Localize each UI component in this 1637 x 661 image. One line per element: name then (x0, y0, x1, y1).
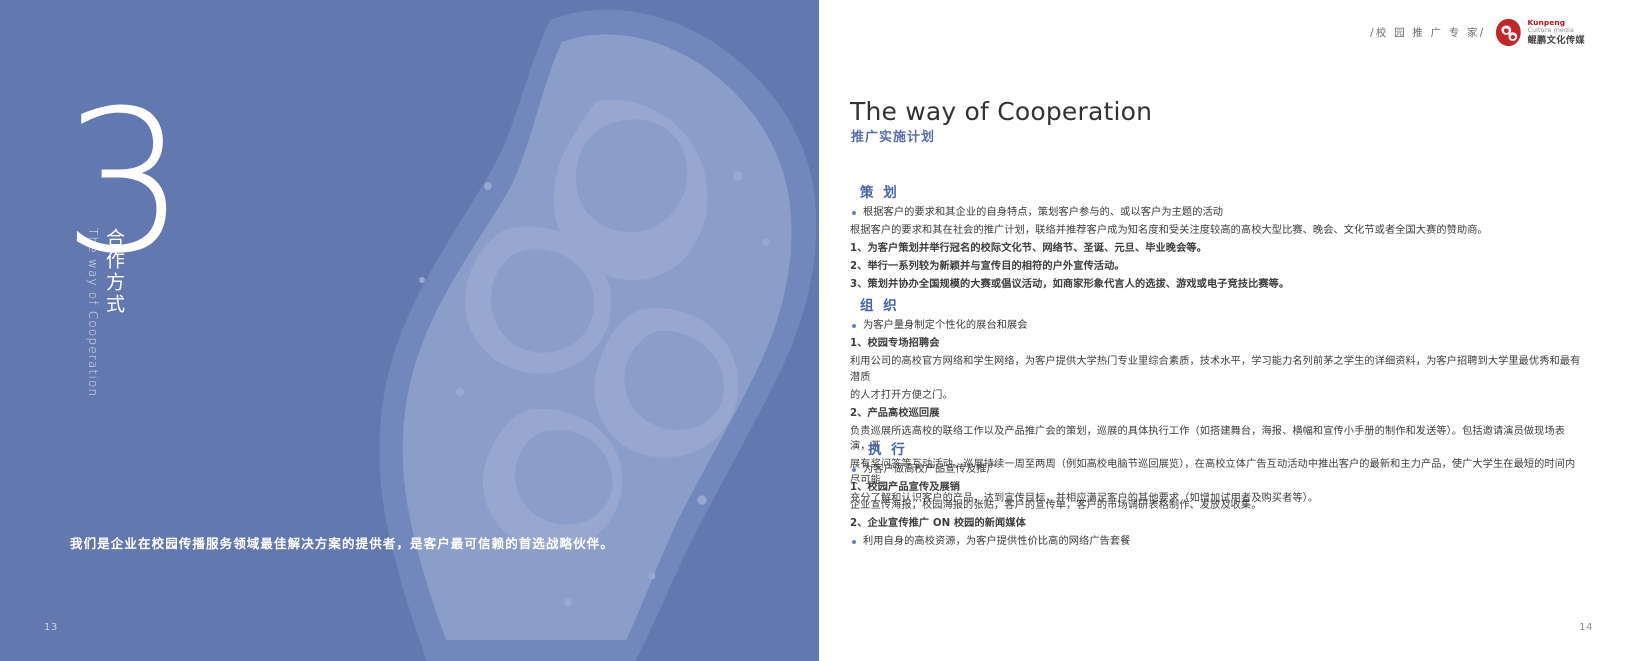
bullet-line: 为客户量身制定个性化的展台和展会 (850, 318, 1585, 334)
numbered-line: 1、校园专场招聘会 (850, 336, 1585, 352)
numbered-line: 1、校园产品宣传及展销 (850, 480, 1585, 496)
kunpeng-seal-icon (1495, 18, 1522, 47)
body-line: 的人才打开方便之门。 (850, 388, 1585, 404)
left-page-tagline: 我们是企业在校园传播服务领域最佳解决方案的提供者，是客户最可信赖的首选战略伙伴。 (70, 533, 614, 552)
section-heading: 执 行 (868, 438, 1585, 458)
section-body: 为客户做高校产品宣传及推广1、校园产品宣传及展销企业宣传海报，校园海报的张贴，客… (850, 462, 1585, 550)
section-heading: 策 划 (860, 181, 1585, 201)
right-content-page: /校 园 推 广 专 家/ Kunpeng Culture media 鲲鹏文化… (819, 0, 1637, 661)
body-line: 企业宣传海报，校园海报的张贴，客户的宣传单，客户的市场调研表格制作、发放及收集。 (850, 498, 1585, 514)
section-title-vertical: 合作方式 The way of Cooperation (86, 228, 128, 428)
section-body: 根据客户的要求和其企业的自身特点，策划客户参与的、或以客户为主题的活动根据客户的… (850, 205, 1585, 293)
brand-cn-name: 鲲鹏文化传媒 (1527, 36, 1585, 46)
body-line: 利用公司的高校官方网络和学生网络，为客户提供大学热门专业里综合素质，技术水平，学… (850, 354, 1585, 385)
page-spread: 3 合作方式 The way of Cooperation 我们是企业在校园传播… (0, 0, 1637, 661)
page-subtitle: 推广实施计划 (851, 126, 935, 145)
brand-slogan: /校 园 推 广 专 家/ (1370, 25, 1485, 40)
page-title: The way of Cooperation (850, 97, 1152, 126)
brand-logo: Kunpeng Culture media 鲲鹏文化传媒 (1495, 18, 1585, 47)
numbered-line: 2、举行一系列较为新颖并与宣传目的相符的户外宣传活动。 (850, 259, 1585, 275)
numbered-line: 1、为客户策划并举行冠名的校际文化节、网络节、圣诞、元旦、毕业晚会等。 (850, 241, 1585, 257)
section-planning: 策 划 根据客户的要求和其企业的自身特点，策划客户参与的、或以客户为主题的活动根… (850, 181, 1585, 295)
section-heading: 组 织 (860, 294, 1585, 314)
bullet-line: 为客户做高校产品宣传及推广 (850, 462, 1585, 478)
numbered-line: 2、企业宣传推广 ON 校园的新闻媒体 (850, 516, 1585, 532)
body-line: 根据客户的要求和其在社会的推广计划，联络并推荐客户成为知名度和受关注度较高的高校… (850, 223, 1585, 239)
left-divider-page: 3 合作方式 The way of Cooperation 我们是企业在校园传播… (0, 0, 819, 661)
section-title-cn: 合作方式 (101, 228, 128, 316)
bullet-line: 利用自身的高校资源，为客户提供性价比高的网络广告套餐 (850, 534, 1585, 550)
brand-header: /校 园 推 广 专 家/ Kunpeng Culture media 鲲鹏文化… (1370, 18, 1585, 47)
bullet-line: 根据客户的要求和其企业的自身特点，策划客户参与的、或以客户为主题的活动 (850, 205, 1585, 221)
numbered-line: 3、策划并协办全国规模的大赛或倡议活动，如商家形象代言人的选拔、游戏或电子竞技比… (850, 277, 1585, 293)
page-number-left: 13 (44, 622, 58, 633)
map-silhouette-artwork (300, 0, 819, 661)
numbered-line: 2、产品高校巡回展 (850, 406, 1585, 422)
page-number-right: 14 (1579, 622, 1593, 633)
brand-wordmark: Kunpeng Culture media 鲲鹏文化传媒 (1527, 19, 1585, 46)
section-title-en: The way of Cooperation (86, 228, 100, 397)
brand-en-line2: Culture media (1527, 27, 1585, 34)
section-execution: 执 行 为客户做高校产品宣传及推广1、校园产品宣传及展销企业宣传海报，校园海报的… (850, 438, 1585, 552)
